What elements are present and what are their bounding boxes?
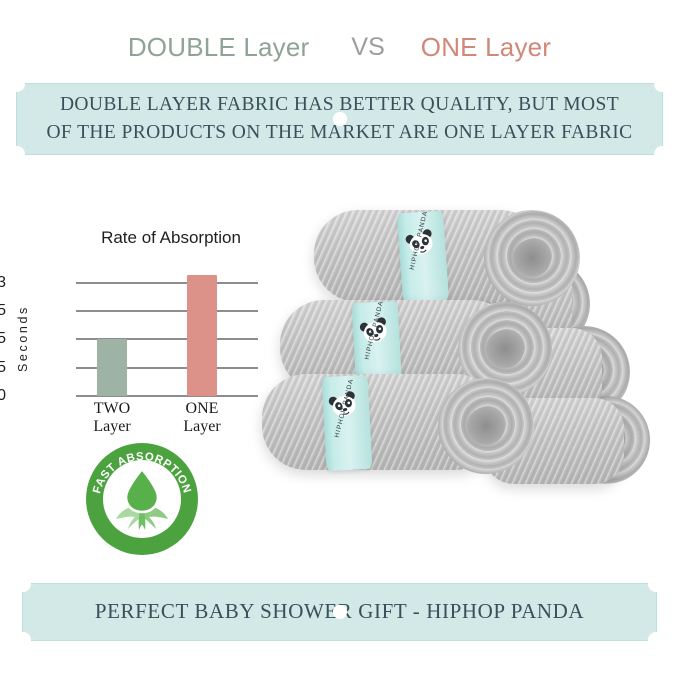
top-banner-text: DOUBLE LAYER FABRIC HAS BETTER QUALITY, … xyxy=(28,91,650,146)
banner-dot-icon xyxy=(26,90,29,93)
double-layer-label: DOUBLE Layer xyxy=(128,32,310,63)
banner-dot-icon xyxy=(644,590,647,593)
one-layer-label: ONE Layer xyxy=(421,32,551,63)
comparison-header: DOUBLE Layer VS ONE Layer xyxy=(0,27,679,67)
banner-corner-top-left-icon xyxy=(9,76,25,92)
banner-dot-icon xyxy=(32,590,35,593)
bottom-message-banner: PERFECT BABY SHOWER GIFT - HIPHOP PANDA xyxy=(22,583,657,641)
chart-x-label-line: TWO xyxy=(74,400,150,418)
bottom-banner-text: PERFECT BABY SHOWER GIFT - HIPHOP PANDA xyxy=(77,597,602,627)
chart-plot-area xyxy=(76,266,258,396)
towel-brand-band: HIPHOP PANDA xyxy=(397,211,449,304)
towel-roll-core xyxy=(486,330,524,368)
banner-corner-bottom-left-icon xyxy=(15,632,31,648)
absorption-rate-chart: Rate of Absorption Seconds 00.751.52.253… xyxy=(14,228,266,440)
chart-y-tick-label: 0 xyxy=(0,387,6,405)
chart-gridline xyxy=(76,282,258,284)
chart-y-tick-label: 0.75 xyxy=(0,359,6,377)
chart-x-label-line: Layer xyxy=(164,418,240,436)
product-photo-towel-stack: HIPHOP PANDA HIPHOP PANDA xyxy=(262,196,662,546)
chart-y-tick-label: 2.25 xyxy=(0,302,6,320)
towel-brand-band: HIPHOP PANDA xyxy=(322,375,373,471)
chart-y-tick-label: 3 xyxy=(0,274,6,292)
banner-dot-icon xyxy=(650,90,653,93)
banner-dot-icon xyxy=(644,631,647,634)
towel-roll-core xyxy=(513,239,551,277)
banner-corner-top-right-icon xyxy=(648,576,664,592)
banner-dot-icon xyxy=(32,631,35,634)
chart-x-label-one-layer: ONELayer xyxy=(164,400,240,436)
chart-bar-one-layer xyxy=(187,275,217,396)
chart-x-label-line: Layer xyxy=(74,418,150,436)
water-droplet-icon xyxy=(126,469,158,512)
banner-dot-icon xyxy=(26,145,29,148)
fast-absorption-badge: FAST ABSORPTION xyxy=(86,443,198,555)
towel-roll-core xyxy=(467,407,505,445)
banner-corner-bottom-right-icon xyxy=(648,632,664,648)
banner-corner-top-right-icon xyxy=(654,76,670,92)
towel-roll-end xyxy=(438,378,534,474)
banner-corner-bottom-right-icon xyxy=(654,146,670,162)
top-banner-line-1: DOUBLE LAYER FABRIC HAS BETTER QUALITY, … xyxy=(46,91,632,119)
chart-gridline xyxy=(76,310,258,312)
chart-x-label-line: ONE xyxy=(164,400,240,418)
chart-y-tick-label: 1.5 xyxy=(0,330,6,348)
chart-bar-two-layer xyxy=(97,339,127,396)
banner-corner-top-left-icon xyxy=(15,576,31,592)
vs-label: VS xyxy=(351,33,384,62)
chart-y-axis-label: Seconds xyxy=(16,274,34,404)
chart-x-label-two-layer: TWOLayer xyxy=(74,400,150,436)
top-message-banner: DOUBLE LAYER FABRIC HAS BETTER QUALITY, … xyxy=(16,83,663,155)
banner-corner-bottom-left-icon xyxy=(9,146,25,162)
towel-roll-end xyxy=(484,210,580,306)
badge-graphic: FAST ABSORPTION xyxy=(86,443,198,555)
top-banner-line-2: OF THE PRODUCTS ON THE MARKET ARE ONE LA… xyxy=(46,119,632,147)
banner-dot-icon xyxy=(650,145,653,148)
chart-title: Rate of Absorption xyxy=(76,228,266,248)
